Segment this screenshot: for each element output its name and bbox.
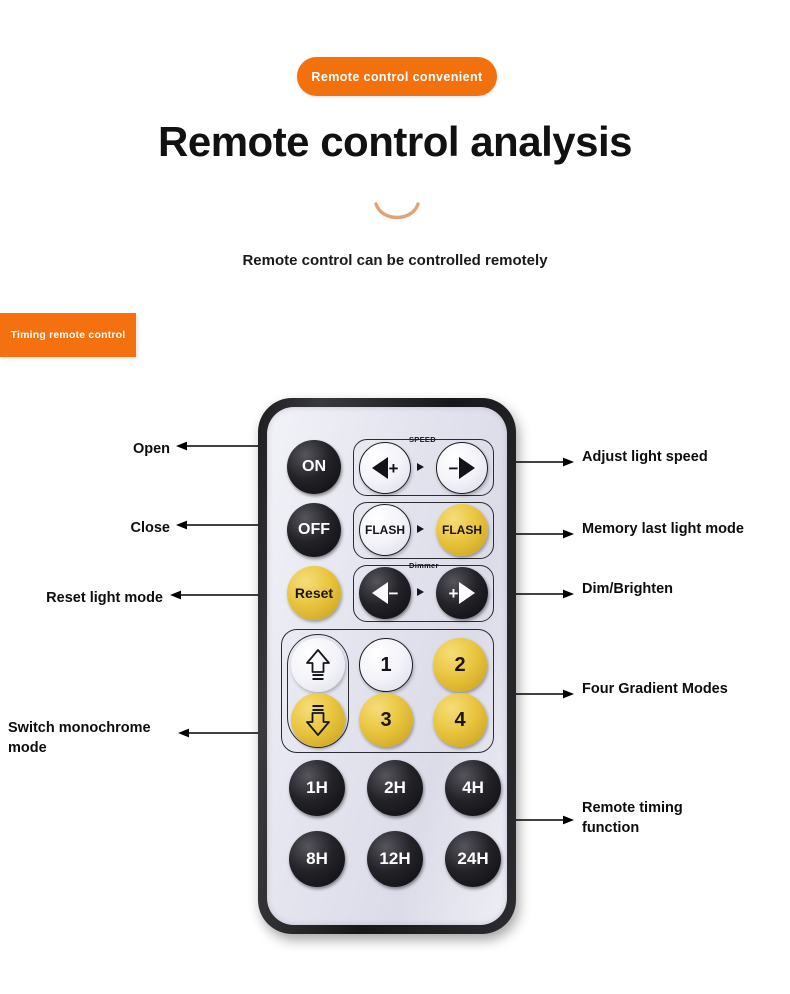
callout-four-gradient-modes: Four Gradient Modes	[582, 679, 782, 699]
callout-adjust-light-speed: Adjust light speed	[582, 447, 782, 467]
swoosh-decoration-icon	[374, 200, 420, 226]
speed-group-label: SPEED	[406, 435, 439, 444]
side-tab-label: Timing remote control	[11, 329, 126, 341]
right-triangle-icon	[459, 582, 475, 604]
key-timer-4h[interactable]: 4H	[445, 760, 501, 816]
key-flash-white[interactable]: FLASH	[359, 504, 411, 556]
key-gradient-3-label: 3	[380, 709, 391, 732]
key-flash-yellow-label: FLASH	[442, 523, 482, 537]
left-triangle-icon	[372, 457, 388, 479]
key-timer-12h[interactable]: 12H	[367, 831, 423, 887]
callout-open: Open	[60, 439, 170, 459]
key-timer-8h-label: 8H	[306, 849, 328, 869]
key-gradient-1-label: 1	[380, 654, 391, 677]
key-dim-decrease[interactable]: −	[359, 567, 411, 619]
key-on-label: ON	[302, 459, 326, 475]
flash-direction-marker-icon	[417, 525, 424, 533]
header-pill-label: Remote control convenient	[311, 70, 482, 84]
callout-reset-light-mode: Reset light mode	[8, 588, 163, 608]
key-on[interactable]: ON	[287, 440, 341, 494]
key-speed-decrease[interactable]: +	[359, 442, 411, 494]
key-dim-decrease-label: −	[389, 585, 399, 602]
page-title: Remote control analysis	[0, 118, 790, 166]
remote-faceplate: SPEED ON + − OFF FLASH	[267, 407, 507, 925]
key-reset-label: Reset	[295, 585, 333, 601]
left-triangle-icon	[372, 582, 388, 604]
key-timer-1h-label: 1H	[306, 778, 328, 798]
key-flash-yellow[interactable]: FLASH	[436, 504, 488, 556]
callout-close: Close	[60, 518, 170, 538]
key-speed-decrease-label: +	[389, 460, 399, 477]
key-timer-24h-label: 24H	[457, 849, 488, 869]
down-arrow-icon	[305, 703, 331, 737]
key-dim-increase[interactable]: +	[436, 567, 488, 619]
key-timer-1h[interactable]: 1H	[289, 760, 345, 816]
key-dim-increase-label: +	[449, 585, 459, 602]
callout-dim-brighten: Dim/Brighten	[582, 579, 782, 599]
key-gradient-2-label: 2	[454, 654, 465, 677]
remote-control-device: SPEED ON + − OFF FLASH	[258, 398, 516, 934]
key-speed-decrease-glyphs: +	[372, 457, 399, 479]
callout-remote-timing-function: Remote timing function	[582, 798, 762, 838]
key-speed-increase-label: −	[449, 460, 459, 477]
dimmer-group-label: Dimmer	[406, 561, 442, 570]
side-tab-timing-remote-control[interactable]: Timing remote control	[0, 313, 136, 357]
speed-direction-marker-icon	[417, 463, 424, 471]
key-dim-increase-glyphs: +	[449, 582, 476, 604]
key-timer-12h-label: 12H	[379, 849, 410, 869]
right-triangle-icon	[459, 457, 475, 479]
callout-switch-monochrome-mode: Switch monochrome mode	[8, 718, 173, 758]
up-arrow-icon	[305, 648, 331, 682]
key-off-label: OFF	[298, 522, 330, 538]
key-gradient-4-label: 4	[454, 709, 465, 732]
key-gradient-3[interactable]: 3	[359, 693, 413, 747]
key-reset[interactable]: Reset	[287, 566, 341, 620]
key-timer-2h[interactable]: 2H	[367, 760, 423, 816]
key-off[interactable]: OFF	[287, 503, 341, 557]
key-gradient-1[interactable]: 1	[359, 638, 413, 692]
key-dim-decrease-glyphs: −	[372, 582, 399, 604]
key-gradient-2[interactable]: 2	[433, 638, 487, 692]
key-gradient-4[interactable]: 4	[433, 693, 487, 747]
callout-arrow-open	[176, 441, 260, 451]
key-speed-increase[interactable]: −	[436, 442, 488, 494]
page-subtitle: Remote control can be controlled remotel…	[0, 252, 790, 269]
key-timer-8h[interactable]: 8H	[289, 831, 345, 887]
key-timer-4h-label: 4H	[462, 778, 484, 798]
callout-arrow-switch-monochrome-mode	[178, 728, 260, 738]
header-pill-badge: Remote control convenient	[297, 57, 497, 96]
callout-arrow-close	[176, 520, 260, 530]
key-mode-down[interactable]	[291, 693, 345, 747]
key-speed-increase-glyphs: −	[449, 457, 476, 479]
callout-memory-last-light-mode: Memory last light mode	[582, 519, 790, 539]
key-flash-white-label: FLASH	[365, 523, 405, 537]
key-mode-up[interactable]	[291, 638, 345, 692]
callout-arrow-reset-light-mode	[170, 590, 260, 600]
key-timer-2h-label: 2H	[384, 778, 406, 798]
dimmer-direction-marker-icon	[417, 588, 424, 596]
key-timer-24h[interactable]: 24H	[445, 831, 501, 887]
